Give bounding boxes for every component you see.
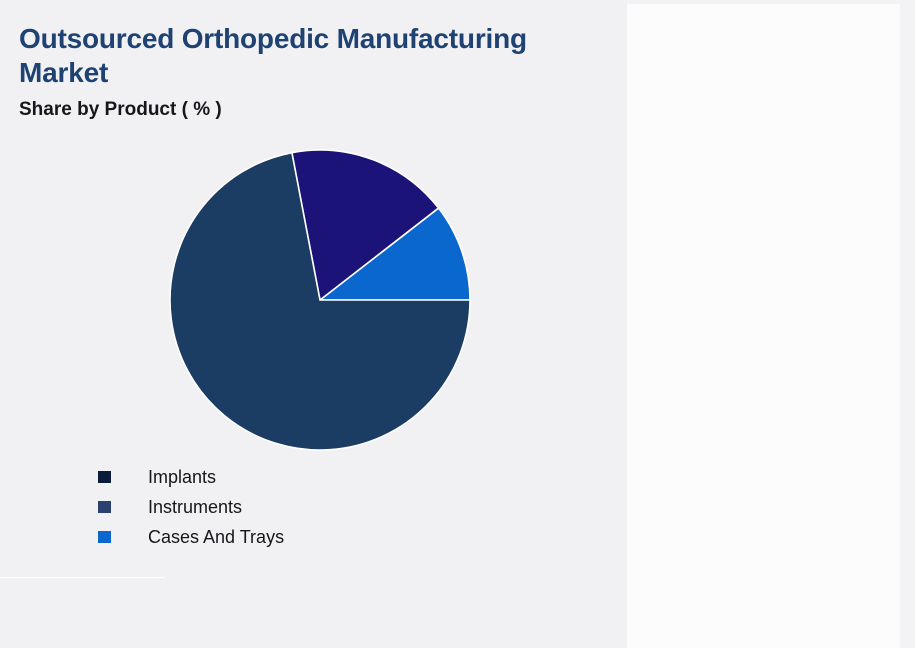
pie-chart-panel: Outsourced Orthopedic Manufacturing Mark… [0, 0, 627, 648]
legend-label-instruments: Instruments [148, 498, 242, 516]
page-title: Outsourced Orthopedic Manufacturing Mark… [19, 22, 539, 90]
chart-canvas: Outsourced Orthopedic Manufacturing Mark… [0, 0, 915, 648]
divider-line [0, 577, 165, 578]
kpi-panel: US$ 4,227.70 million Outsourced Orthoped… [627, 4, 900, 648]
pie-chart [160, 140, 490, 470]
legend-label-implants: Implants [148, 468, 216, 486]
pie-svg [160, 140, 490, 470]
chart-subtitle: Share by Product ( % ) [19, 99, 222, 121]
chart-legend: Implants Instruments Cases And Trays [98, 462, 284, 552]
legend-swatch-icon-cases-and-trays [98, 531, 111, 543]
legend-item-instruments[interactable]: Instruments [98, 492, 284, 522]
legend-item-implants[interactable]: Implants [98, 462, 284, 492]
legend-swatch-icon-instruments [98, 501, 111, 513]
panel-right-strip [900, 0, 915, 648]
legend-swatch-icon-implants [98, 471, 111, 483]
legend-item-cases-and-trays[interactable]: Cases And Trays [98, 522, 284, 552]
legend-label-cases-and-trays: Cases And Trays [148, 528, 284, 546]
